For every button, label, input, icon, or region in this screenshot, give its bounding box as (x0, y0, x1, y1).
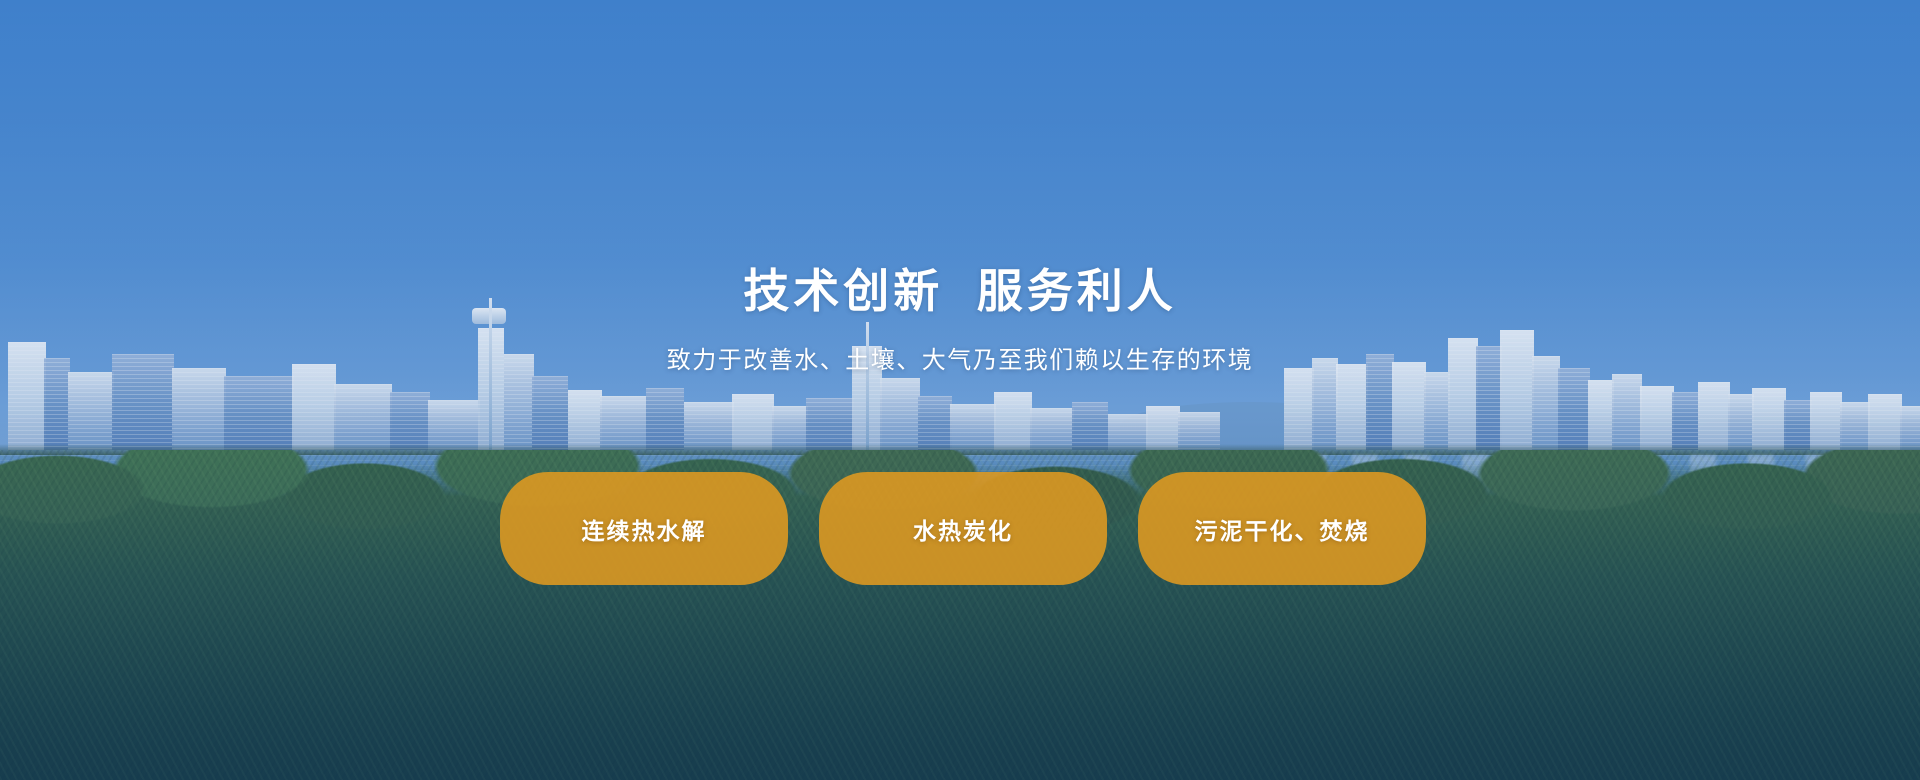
hero-button-continuous-thermal-hydrolysis[interactable]: 连续热水解 (500, 472, 788, 585)
hero-button-group: 连续热水解 水热炭化 污泥干化、焚烧 (500, 472, 1426, 585)
hero-subtitle: 致力于改善水、土壤、大气乃至我们赖以生存的环境 (0, 345, 1920, 376)
hero-banner: 技术创新 服务利人 致力于改善水、土壤、大气乃至我们赖以生存的环境 连续热水解 … (0, 0, 1920, 780)
hero-button-hydrothermal-carbonization[interactable]: 水热炭化 (819, 472, 1107, 585)
hero-button-sludge-drying-incineration[interactable]: 污泥干化、焚烧 (1138, 472, 1426, 585)
hero-content: 技术创新 服务利人 致力于改善水、土壤、大气乃至我们赖以生存的环境 连续热水解 … (0, 0, 1920, 780)
hero-title: 技术创新 服务利人 (0, 264, 1920, 319)
